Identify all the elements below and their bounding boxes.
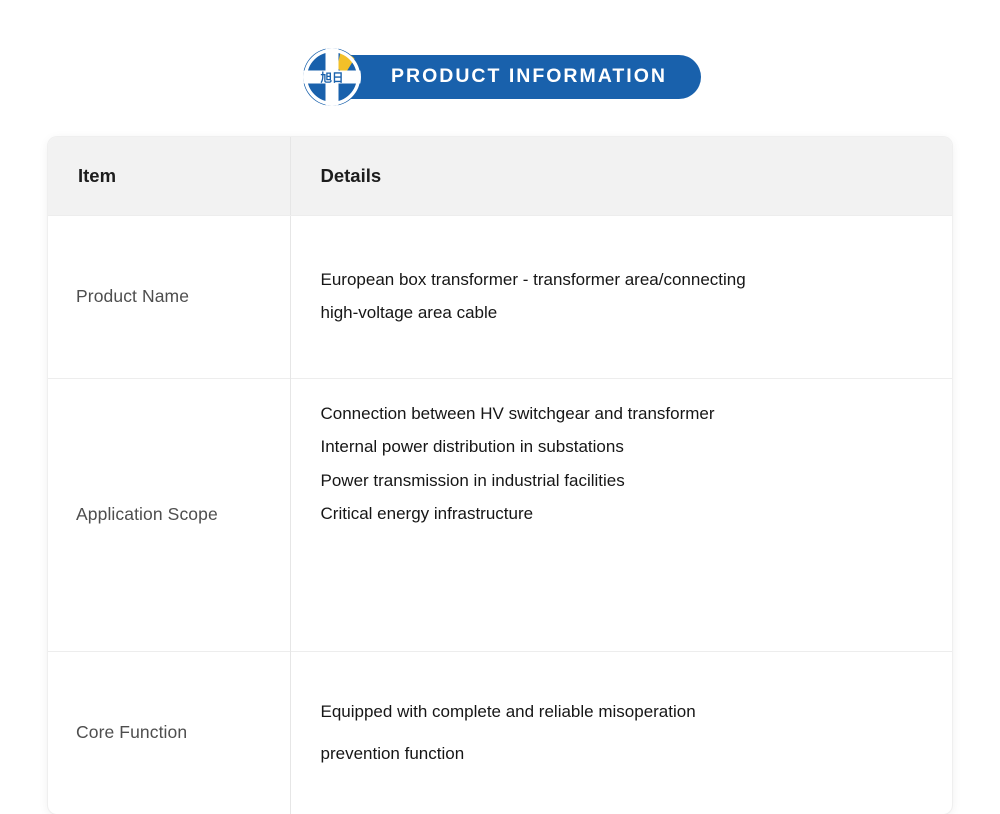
table-row: Core Function Equipped with complete and…	[48, 652, 952, 814]
banner-section: PRODUCT INFORMATION	[0, 44, 1000, 110]
detail-line: Connection between HV switchgear and tra…	[321, 397, 927, 430]
detail-line: European box transformer - transformer a…	[321, 264, 927, 297]
row-label-product-name: Product Name	[48, 216, 290, 379]
row-details-application-scope: Connection between HV switchgear and tra…	[290, 379, 952, 652]
detail-line: Internal power distribution in substatio…	[321, 430, 927, 463]
detail-line: prevention function	[321, 733, 927, 775]
row-details-product-name: European box transformer - transformer a…	[290, 216, 952, 379]
svg-text:旭日: 旭日	[320, 71, 344, 85]
detail-line: Equipped with complete and reliable miso…	[321, 691, 927, 733]
detail-line: Power transmission in industrial facilit…	[321, 464, 927, 497]
table-row: Product Name European box transformer - …	[48, 216, 952, 379]
table-row: Application Scope Connection between HV …	[48, 379, 952, 652]
detail-line: Critical energy infrastructure	[321, 497, 927, 530]
row-label-application-scope: Application Scope	[48, 379, 290, 652]
banner-pill: PRODUCT INFORMATION	[321, 55, 701, 99]
banner: PRODUCT INFORMATION	[299, 55, 701, 99]
table-header-row: Item Details	[48, 137, 952, 216]
company-logo-icon: 旭日	[299, 44, 365, 110]
row-details-core-function: Equipped with complete and reliable miso…	[290, 652, 952, 814]
row-label-core-function: Core Function	[48, 652, 290, 814]
product-information-table: Item Details Product Name European box t…	[48, 137, 952, 814]
column-header-item: Item	[48, 137, 290, 216]
detail-line: high-voltage area cable	[321, 297, 927, 330]
product-information-page: PRODUCT INFORMATION	[0, 0, 1000, 760]
column-header-details: Details	[290, 137, 952, 216]
page-title: PRODUCT INFORMATION	[391, 67, 667, 87]
